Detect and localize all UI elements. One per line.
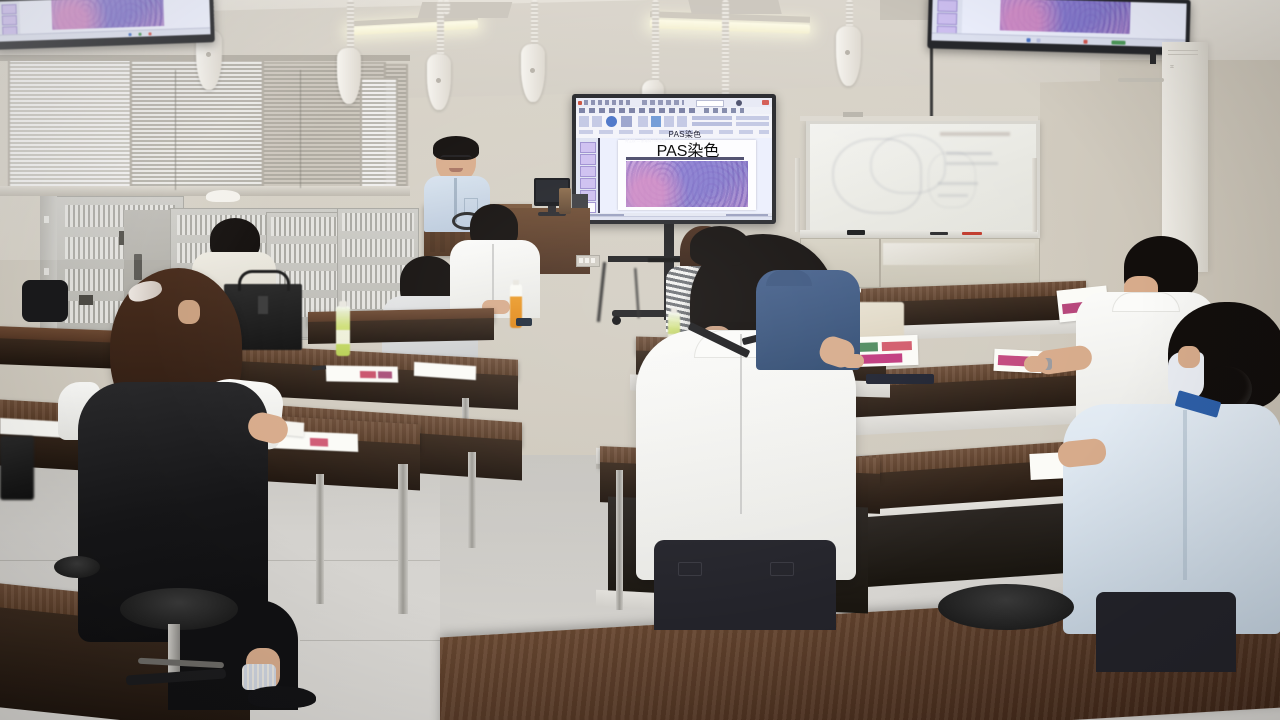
ceiling-vent	[418, 2, 513, 18]
ceiling-cord-reel	[531, 0, 538, 48]
face-side	[1178, 346, 1200, 368]
wall-rail	[1118, 78, 1164, 82]
wall-anchor	[843, 112, 863, 117]
stool[interactable]	[54, 556, 100, 578]
slide-title: PAS染色	[644, 143, 732, 154]
handout[interactable]	[326, 365, 399, 382]
cord-reel-button	[530, 68, 535, 73]
laptop-closed[interactable]	[866, 374, 934, 384]
shoe	[248, 686, 316, 708]
window-sill	[0, 186, 410, 196]
classroom-photo: ⌗	[0, 0, 1280, 720]
main-display[interactable]: PAS染色	[572, 94, 776, 224]
wall-switch-panel[interactable]	[576, 255, 600, 267]
smile	[449, 168, 463, 172]
window-bright-pane	[360, 78, 398, 194]
slide-caption-text: 腎生検 — 糸球体 PAS染色	[625, 139, 735, 144]
cabinet-latch	[44, 268, 49, 275]
windows-taskbar[interactable]	[576, 216, 772, 220]
cord-reel-button	[206, 52, 211, 57]
ceiling-cord-reel	[722, 0, 729, 98]
cord-reel-button	[436, 78, 441, 83]
ceiling-cord-reel	[443, 0, 450, 14]
ppt-slide: PAS染色	[618, 140, 756, 210]
cabinet-latch	[44, 216, 49, 223]
whiteboard-side-rail	[795, 158, 800, 232]
cabinet-top-object	[206, 190, 240, 202]
stool-post	[168, 624, 180, 676]
monitor-bracket	[1150, 50, 1156, 64]
whiteboard-eraser[interactable]	[847, 230, 865, 235]
ceiling-cord-reel	[652, 0, 659, 84]
ceiling-monitor-left	[0, 0, 215, 50]
stool[interactable]	[938, 584, 1074, 630]
thermos[interactable]	[559, 188, 571, 214]
whiteboard-tray	[800, 230, 1038, 238]
whiteboard-top-rail	[800, 116, 1038, 121]
desk-leg	[616, 470, 623, 610]
pants	[1096, 592, 1236, 672]
desk-leg	[316, 474, 324, 604]
cord-reel-button	[845, 50, 850, 55]
histology-image	[626, 161, 748, 207]
ceiling-cord-reel	[347, 0, 354, 52]
ceiling-vent	[688, 0, 781, 14]
blind-cord	[300, 70, 301, 188]
window-blind-bright	[8, 58, 132, 194]
marker-black[interactable]	[930, 232, 948, 235]
hand	[842, 354, 864, 368]
handbag-black[interactable]	[0, 436, 34, 500]
cabinet-handle	[134, 254, 142, 280]
whiteboard	[806, 120, 1040, 238]
ceiling-monitor-right	[927, 0, 1190, 56]
hand	[1024, 356, 1048, 372]
desk-leg	[468, 452, 476, 548]
pc-tower	[572, 194, 588, 208]
center-white-shirt-pants	[654, 540, 836, 630]
chair-back[interactable]	[22, 280, 68, 322]
blue-polo-hair	[690, 226, 750, 266]
blind-cord	[175, 70, 176, 190]
phone[interactable]	[516, 318, 532, 326]
histology-image	[51, 0, 164, 30]
window-blind	[130, 60, 264, 194]
ppt-tab-strip	[576, 107, 772, 114]
cart-keyboard-tray	[648, 258, 680, 262]
drink-bottle-green[interactable]	[336, 306, 350, 356]
front-left-woman-face	[178, 300, 200, 324]
ppt-canvas: PAS染色	[600, 138, 772, 213]
whiteboard-side-rail	[1032, 158, 1037, 232]
marker-red[interactable]	[962, 232, 982, 235]
glasses	[440, 155, 472, 163]
slide-caption-bar	[626, 157, 744, 160]
caster	[612, 316, 621, 325]
desk-leg	[398, 464, 408, 614]
histology-image	[1000, 0, 1131, 34]
